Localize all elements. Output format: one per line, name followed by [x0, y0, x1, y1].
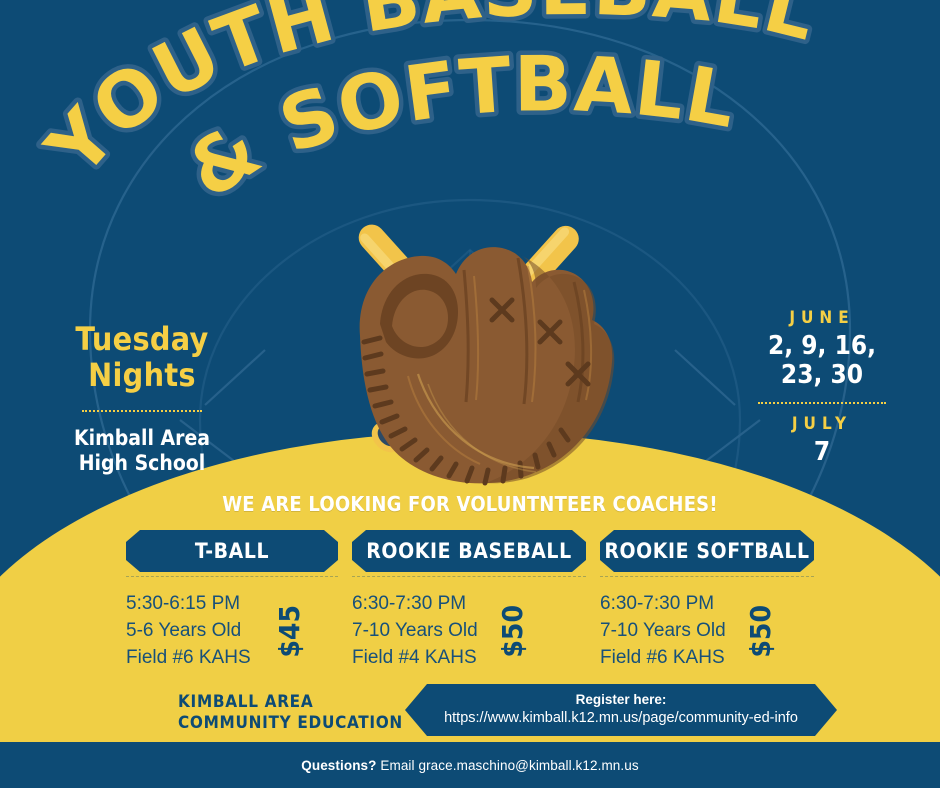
organization-name: KIMBALL AREA COMMUNITY EDUCATION — [178, 692, 403, 733]
session-ages: 5-6 Years Old — [126, 618, 251, 645]
month-july-label: JULY — [722, 414, 922, 434]
venue-name: Kimball Area High School — [22, 426, 262, 476]
session-name: ROOKIE SOFTBALL — [604, 539, 809, 563]
session-details: 6:30-7:30 PM 7-10 Years Old Field #4 KAH… — [352, 591, 586, 672]
session-divider — [600, 576, 814, 577]
session-divider — [126, 576, 338, 577]
june-dates-line1: 2, 9, 16, — [722, 332, 922, 361]
baseball-glove-and-bats-illustration — [268, 196, 668, 496]
schedule-day-line1: Tuesday — [22, 322, 262, 358]
sessions-list: T-BALL 5:30-6:15 PM 5-6 Years Old Field … — [0, 530, 940, 670]
schedule-day-line2: Nights — [22, 358, 262, 394]
month-june-label: JUNE — [722, 308, 922, 328]
session-field: Field #4 KAHS — [352, 645, 478, 672]
page-title: YOUTH BASEBALL & SOFTBALL — [0, 0, 940, 215]
register-banner[interactable]: Register here: https://www.kimball.k12.m… — [405, 684, 837, 736]
contact-prompt: Questions? — [301, 758, 376, 773]
session-field: Field #6 KAHS — [126, 645, 251, 672]
divider-dotted-dates — [758, 402, 886, 404]
session-card-rookie-baseball: ROOKIE BASEBALL 6:30-7:30 PM 7-10 Years … — [352, 530, 586, 672]
contact-bar: Questions? Email grace.maschino@kimball.… — [0, 742, 940, 788]
session-time: 5:30-6:15 PM — [126, 591, 251, 618]
session-ages: 7-10 Years Old — [352, 618, 478, 645]
register-url-link[interactable]: https://www.kimball.k12.mn.us/page/commu… — [444, 709, 798, 727]
session-name: ROOKIE BASEBALL — [366, 539, 571, 563]
contact-email-text[interactable]: Email grace.maschino@kimball.k12.mn.us — [380, 758, 638, 773]
session-divider — [352, 576, 586, 577]
session-price: $45 — [273, 605, 306, 658]
baseball-glove-icon — [360, 247, 615, 483]
session-card-rookie-softball: ROOKIE SOFTBALL 6:30-7:30 PM 7-10 Years … — [600, 530, 814, 672]
organization-line1: KIMBALL AREA — [178, 692, 403, 713]
session-banner: ROOKIE BASEBALL — [352, 530, 586, 572]
contact-text: Questions? Email grace.maschino@kimball.… — [301, 758, 638, 773]
register-title: Register here: — [576, 693, 667, 708]
venue-line2: High School — [22, 451, 262, 476]
session-banner: T-BALL — [126, 530, 338, 572]
session-price: $50 — [744, 605, 777, 658]
session-ages: 7-10 Years Old — [600, 618, 726, 645]
schedule-day: Tuesday Nights — [22, 322, 262, 394]
volunteer-call-text: WE ARE LOOKING FOR VOLUNTNTEER COACHES! — [0, 492, 940, 516]
schedule-block: Tuesday Nights Kimball Area High School — [22, 322, 262, 476]
session-banner: ROOKIE SOFTBALL — [600, 530, 814, 572]
june-dates-line2: 23, 30 — [722, 361, 922, 390]
session-time: 6:30-7:30 PM — [600, 591, 726, 618]
session-time: 6:30-7:30 PM — [352, 591, 478, 618]
july-dates: 7 — [722, 438, 922, 467]
session-card-t-ball: T-BALL 5:30-6:15 PM 5-6 Years Old Field … — [126, 530, 338, 672]
venue-line1: Kimball Area — [22, 426, 262, 451]
session-name: T-BALL — [195, 539, 269, 563]
session-details: 5:30-6:15 PM 5-6 Years Old Field #6 KAHS… — [126, 591, 338, 672]
session-price: $50 — [496, 605, 529, 658]
dates-block: JUNE 2, 9, 16, 23, 30 JULY 7 — [722, 308, 922, 467]
session-detail-lines: 5:30-6:15 PM 5-6 Years Old Field #6 KAHS — [126, 591, 251, 672]
divider-dotted — [82, 410, 202, 412]
june-dates: 2, 9, 16, 23, 30 — [722, 332, 922, 390]
session-detail-lines: 6:30-7:30 PM 7-10 Years Old Field #4 KAH… — [352, 591, 478, 672]
session-details: 6:30-7:30 PM 7-10 Years Old Field #6 KAH… — [600, 591, 814, 672]
flyer-poster: YOUTH BASEBALL & SOFTBALL — [0, 0, 940, 788]
organization-line2: COMMUNITY EDUCATION — [178, 713, 403, 734]
session-detail-lines: 6:30-7:30 PM 7-10 Years Old Field #6 KAH… — [600, 591, 726, 672]
session-field: Field #6 KAHS — [600, 645, 726, 672]
